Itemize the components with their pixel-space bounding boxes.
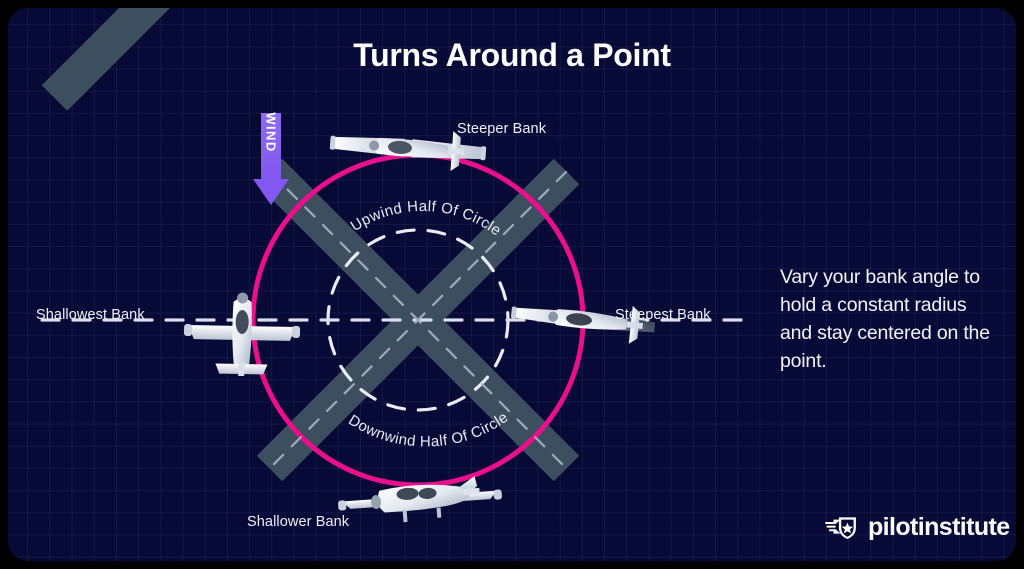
aircraft-bottom-shallower-bank <box>337 474 503 526</box>
label-steeper-bank: Steeper Bank <box>457 121 546 137</box>
label-steepest-bank: Steepest Bank <box>615 307 711 323</box>
wind-label: WIND <box>264 101 279 165</box>
label-shallower-bank: Shallower Bank <box>247 514 349 530</box>
diagram-stage: Upwind Half Of Circle Downwind Half Of C… <box>8 8 768 561</box>
brand-name: pilotinstitute <box>868 513 1010 542</box>
diagram-svg: Upwind Half Of Circle Downwind Half Of C… <box>8 8 768 561</box>
wind-arrow-head <box>253 179 289 205</box>
brand-logo: pilotinstitute <box>825 510 1010 544</box>
label-shallowest-bank: Shallowest Bank <box>36 307 145 323</box>
explanatory-note: Vary your bank angle to hold a constant … <box>780 263 996 375</box>
winged-shield-star-icon <box>825 512 859 542</box>
screenshot-root: Turns Around a Point <box>0 0 1024 569</box>
wind-arrow: WIND <box>253 113 289 205</box>
slide-card: Turns Around a Point <box>8 8 1016 561</box>
downwind-arc-label: Downwind Half Of Circle <box>345 409 511 451</box>
aircraft-left-shallowest-bank <box>183 291 300 377</box>
reference-point-cross <box>42 8 579 481</box>
